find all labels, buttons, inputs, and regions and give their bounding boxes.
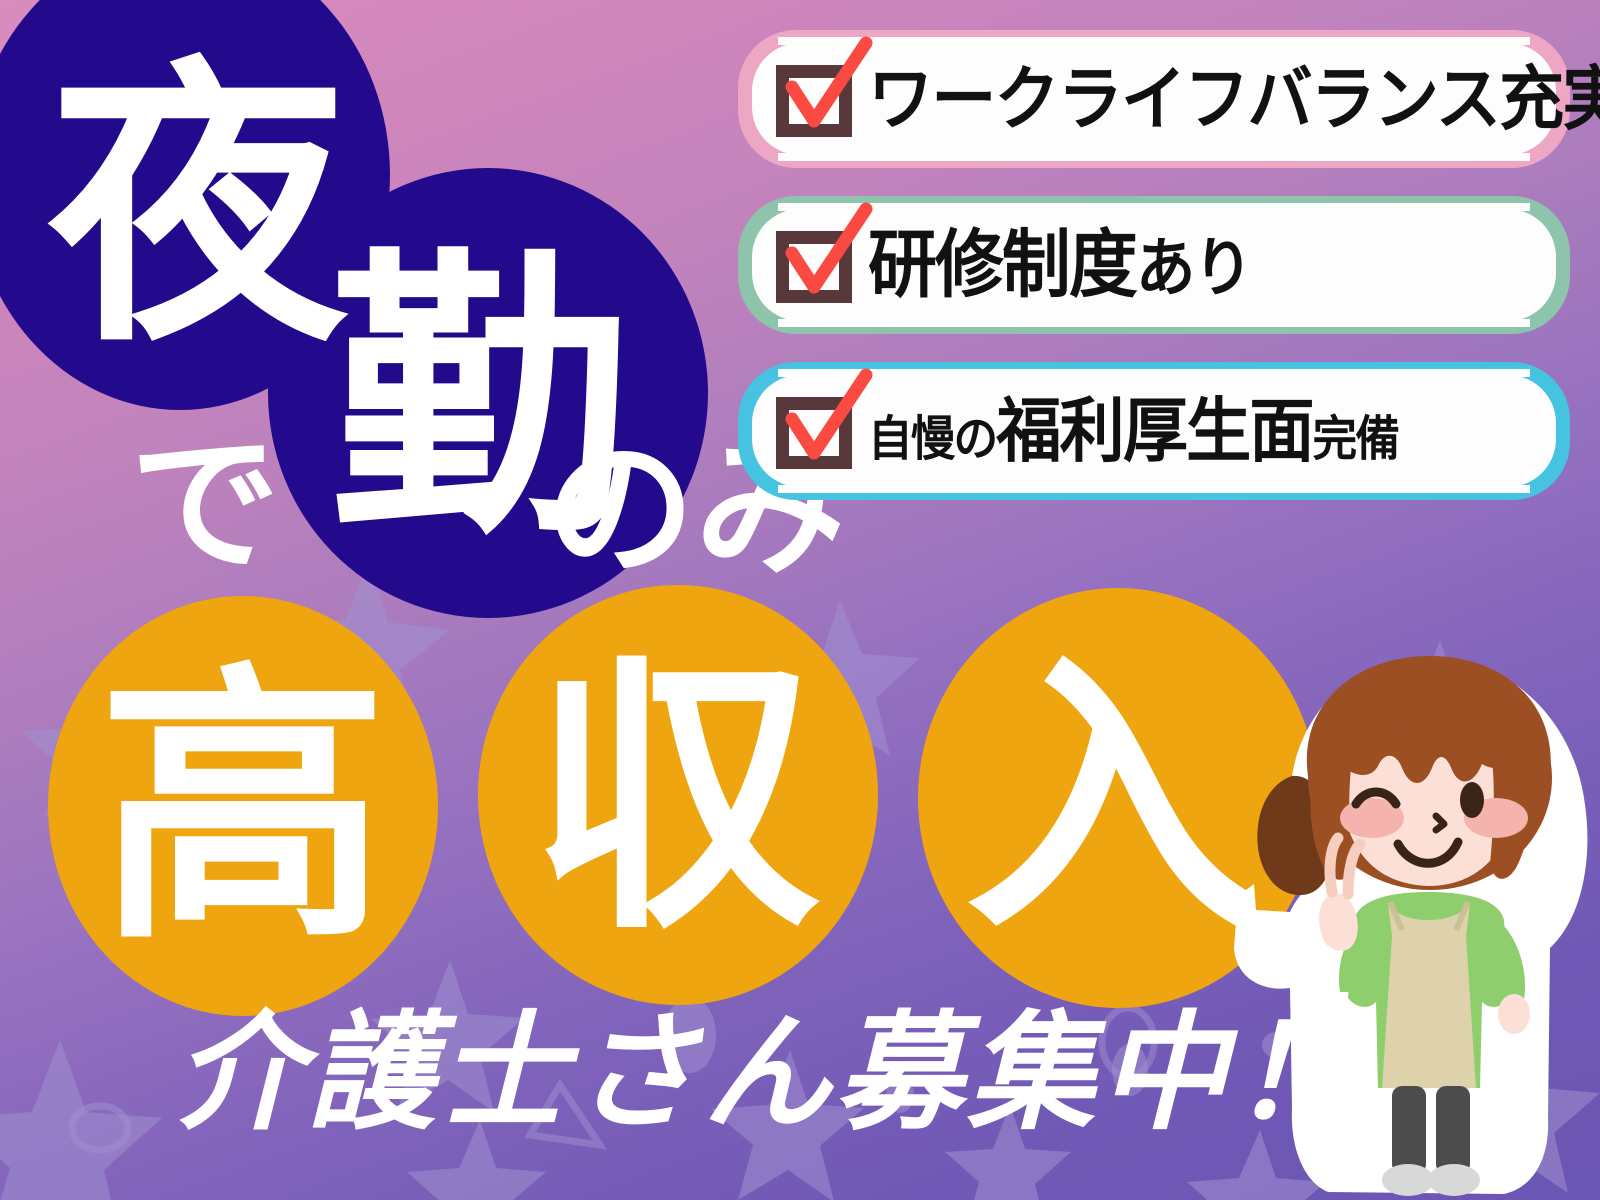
checkbox-checked-icon[interactable] [772,389,858,473]
checklist-item-welfare-benefits[interactable]: 自慢の福利厚生面完備 [738,362,1570,500]
checkbox-checked-icon[interactable] [772,57,858,141]
shoe-left [1382,1164,1434,1196]
checklist-card-edge-top [778,203,1530,211]
eye-right [1460,782,1484,818]
checklist-label-3-tail: 完備 [1313,411,1399,467]
headline-char-nyuu: 入 [965,655,1255,945]
checklist-card-edge-bottom [778,153,1530,161]
hand-right [1498,994,1530,1034]
checklist-label-2-main: 研修制度 [868,222,1136,308]
checklist-item-training-program[interactable]: 研修制度あり [738,196,1570,334]
recruitment-banner: 夜 で 勤 のみ 高 収 入 介護士さん募集中！ ワークライフバランス充実！ [0,0,1600,1200]
check-mark-icon [770,367,880,477]
checklist-label-3-main: 福利厚生面 [996,390,1312,472]
checklist-item-work-life-balance[interactable]: ワークライフバランス充実！ [738,30,1570,168]
shoe-right [1428,1164,1480,1196]
checklist-card-edge-top [778,37,1530,45]
benefits-checklist: ワークライフバランス充実！ 研修制度あり [738,30,1570,528]
checklist-card-edge-bottom [778,319,1530,327]
bottom-tagline: 介護士さん募集中！ [175,1010,1363,1138]
headline-char-shuu: 収 [530,655,820,945]
headline-char-yoru: 夜 [48,58,348,358]
headline-char-kou: 高 [98,665,388,955]
checklist-label-3-lead: 自慢の [868,411,996,467]
check-mark-icon [770,201,880,311]
leg-right [1436,1086,1470,1174]
leg-left [1392,1086,1426,1174]
checkbox-checked-icon[interactable] [772,223,858,307]
headline-particle-de: で [130,430,280,580]
checklist-label-2-soft: あり [1136,232,1251,306]
check-mark-icon [770,35,880,145]
apron [1382,904,1476,1088]
checklist-label-2: 研修制度あり [868,228,1251,302]
checklist-card-edge-top [778,369,1530,377]
caregiver-illustration [1232,648,1600,1200]
checklist-label-1: ワークライフバランス充実！ [868,64,1600,134]
checklist-label-3: 自慢の福利厚生面完備 [868,396,1398,466]
checklist-card-edge-bottom [778,485,1530,493]
